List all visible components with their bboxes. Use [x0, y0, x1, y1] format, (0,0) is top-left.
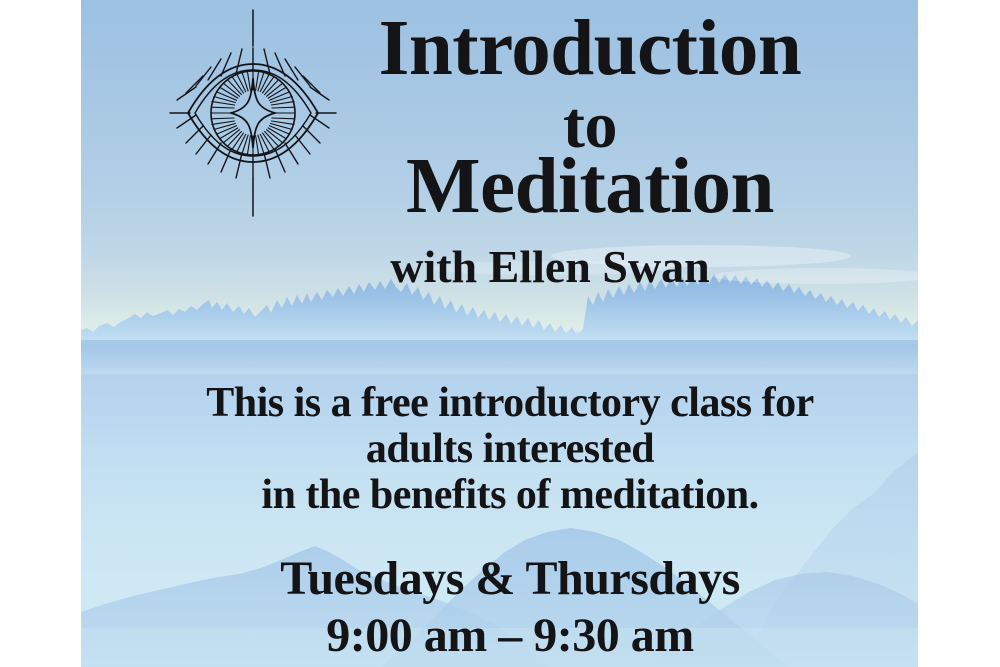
ridge-base-haze	[81, 340, 918, 374]
schedule-time: 9:00 am – 9:30 am	[100, 608, 920, 664]
description-line-3: in the benefits of meditation.	[100, 470, 920, 520]
presenter-name: with Ellen Swan	[200, 240, 900, 294]
meditation-class-flyer: Introduction to Meditation with Ellen Sw…	[0, 0, 1000, 667]
description-line-1: This is a free introductory class for	[100, 378, 920, 428]
description-line-2: adults interested	[100, 424, 920, 474]
page-title-line-1: Introduction	[300, 6, 880, 92]
page-title-line-3: Meditation	[300, 144, 880, 230]
schedule-days: Tuesdays & Thursdays	[100, 551, 920, 607]
